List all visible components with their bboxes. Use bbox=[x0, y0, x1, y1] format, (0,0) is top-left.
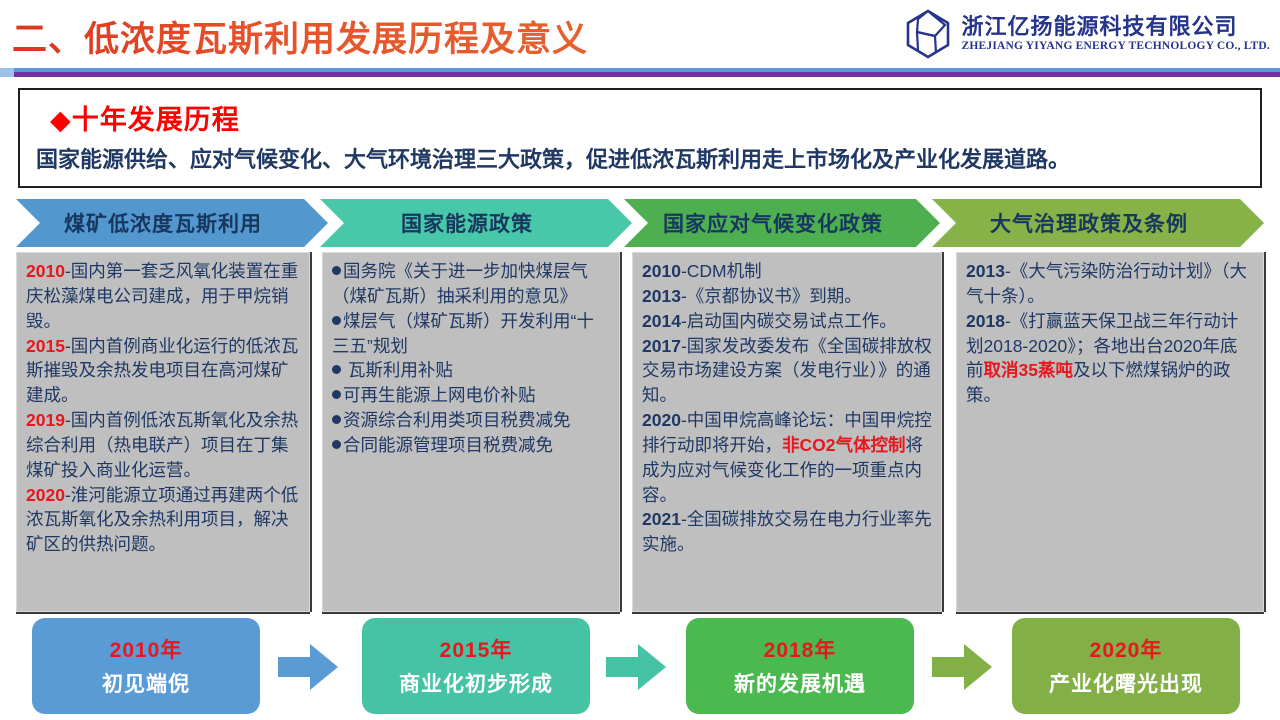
chevron-stage-2[interactable]: 国家能源政策 bbox=[320, 199, 632, 247]
milestone-2018[interactable]: 2018年 新的发展机遇 bbox=[686, 618, 914, 714]
list-item: 2013-《京都协议书》到期。 bbox=[642, 284, 932, 309]
milestone-label: 商业化初步形成 bbox=[399, 668, 553, 698]
entry-text: -国家发改委发布《全国碳排放权交易市场建设方案（发电行业）》的通知。 bbox=[642, 336, 932, 406]
milestone-year: 2015年 bbox=[440, 634, 513, 664]
entry-year: 2020 bbox=[26, 485, 65, 505]
page-title: 二、低浓度瓦斯利用发展历程及意义 bbox=[12, 11, 588, 62]
company-logo: 浙江亿扬能源科技有限公司 ZHEJIANG YIYANG ENERGY TECH… bbox=[905, 6, 1270, 62]
content-column-climate-policy: 2010-CDM机制 2013-《京都协议书》到期。 2014-启动国内碳交易试… bbox=[632, 252, 942, 612]
entry-text: -全国碳排放交易在电力行业率先实施。 bbox=[642, 509, 932, 554]
bullet-dot-icon bbox=[332, 440, 341, 449]
milestone-row: 2010年 初见端倪 2015年 商业化初步形成 2018年 新的发展机遇 20… bbox=[0, 618, 1280, 718]
milestone-label: 新的发展机遇 bbox=[734, 668, 866, 698]
list-item: 2015-国内首例商业化运行的低浓瓦斯摧毁及余热发电项目在高河煤矿建成。 bbox=[26, 334, 300, 409]
entry-highlight: 取消35蒸吨 bbox=[984, 360, 1073, 380]
content-column-air-policy: 2013-《大气污染防治行动计划》（大气十条）。 2018-《打赢蓝天保卫战三年… bbox=[956, 252, 1264, 612]
bullet-text: 合同能源管理项目税费减免 bbox=[343, 435, 553, 455]
entry-year: 2015 bbox=[26, 336, 65, 356]
milestone-year: 2020年 bbox=[1090, 634, 1163, 664]
content-column-energy-policy: 国务院《关于进一步加快煤层气（煤矿瓦斯）抽采利用的意见》 煤层气（煤矿瓦斯）开发… bbox=[322, 252, 620, 612]
bullet-text: 国务院《关于进一步加快煤层气（煤矿瓦斯）抽采利用的意见》 bbox=[332, 261, 588, 306]
list-item: 2020-淮河能源立项通过再建两个低浓瓦斯氧化及余热利用项目，解决矿区的供热问题… bbox=[26, 483, 300, 558]
chevron-stage-3[interactable]: 国家应对气候变化政策 bbox=[624, 199, 940, 247]
chevron-stage-4[interactable]: 大气治理政策及条例 bbox=[932, 199, 1264, 247]
list-item: 2017-国家发改委发布《全国碳排放权交易市场建设方案（发电行业）》的通知。 bbox=[642, 334, 932, 409]
entry-text: -淮河能源立项通过再建两个低浓瓦斯氧化及余热利用项目，解决矿区的供热问题。 bbox=[26, 485, 298, 555]
bullet-text: 资源综合利用类项目税费减免 bbox=[343, 410, 571, 430]
list-item: 2010-CDM机制 bbox=[642, 259, 932, 284]
entry-year: 2017 bbox=[642, 336, 681, 356]
bullet-dot-icon bbox=[332, 266, 341, 275]
arrow-right-icon bbox=[932, 644, 994, 690]
bullet-text: 瓦斯利用补贴 bbox=[343, 360, 453, 380]
header-rule-cap bbox=[0, 68, 14, 77]
arrow-right-icon bbox=[278, 644, 340, 690]
entry-year: 2014 bbox=[642, 311, 681, 331]
list-item: 2018-《打赢蓝天保卫战三年行动计划2018-2020》；各地出台2020年底… bbox=[966, 309, 1254, 408]
milestone-year: 2010年 bbox=[110, 634, 183, 664]
list-item: 2014-启动国内碳交易试点工作。 bbox=[642, 309, 932, 334]
company-name-cn: 浙江亿扬能源科技有限公司 bbox=[961, 15, 1270, 40]
milestone-year: 2018年 bbox=[764, 634, 837, 664]
list-item: 2013-《大气污染防治行动计划》（大气十条）。 bbox=[966, 259, 1254, 309]
hexagon-cube-logo-icon bbox=[905, 9, 951, 59]
list-item: 资源综合利用类项目税费减免 bbox=[332, 408, 610, 433]
entry-text: -启动国内碳交易试点工作。 bbox=[681, 311, 897, 331]
list-item: 国务院《关于进一步加快煤层气（煤矿瓦斯）抽采利用的意见》 bbox=[332, 259, 610, 309]
bullet-text: 可再生能源上网电价补贴 bbox=[343, 385, 536, 405]
bullet-dot-icon bbox=[332, 415, 341, 424]
list-item: 2010-国内第一套乏风氧化装置在重庆松藻煤电公司建成，用于甲烷销毁。 bbox=[26, 259, 300, 334]
entry-year: 2013 bbox=[642, 286, 681, 306]
bullet-dot-icon bbox=[332, 365, 341, 374]
entry-year: 2018 bbox=[966, 311, 1005, 331]
content-column-coal-mine-gas: 2010-国内第一套乏风氧化装置在重庆松藻煤电公司建成，用于甲烷销毁。 2015… bbox=[16, 252, 310, 612]
milestone-label: 产业化曙光出现 bbox=[1049, 668, 1203, 698]
content-columns: 2010-国内第一套乏风氧化装置在重庆松藻煤电公司建成，用于甲烷销毁。 2015… bbox=[16, 252, 1264, 612]
slide-root: 二、低浓度瓦斯利用发展历程及意义 浙江亿扬能源科技有限公司 ZHEJIANG Y… bbox=[0, 0, 1280, 720]
list-item: 2019-国内首例低浓瓦斯氧化及余热综合利用（热电联产）项目在丁集煤矿投入商业化… bbox=[26, 408, 300, 483]
arrow-right-icon bbox=[606, 644, 668, 690]
list-item: 合同能源管理项目税费减免 bbox=[332, 433, 610, 458]
entry-text: -国内首例商业化运行的低浓瓦斯摧毁及余热发电项目在高河煤矿建成。 bbox=[26, 336, 298, 406]
chevron-label: 大气治理政策及条例 bbox=[990, 208, 1188, 238]
bullet-dot-icon bbox=[332, 316, 341, 325]
entry-year: 2020 bbox=[642, 410, 681, 430]
chevron-stage-1[interactable]: 煤矿低浓度瓦斯利用 bbox=[16, 199, 328, 247]
entry-year: 2019 bbox=[26, 410, 65, 430]
entry-highlight: 非CO2气体控制 bbox=[782, 435, 905, 455]
milestone-label: 初见端倪 bbox=[102, 668, 190, 698]
subtitle-panel: ◆十年发展历程 国家能源供给、应对气候变化、大气环境治理三大政策，促进低浓瓦斯利… bbox=[18, 88, 1262, 188]
entry-text: -《大气污染防治行动计划》（大气十条）。 bbox=[966, 261, 1247, 306]
milestone-2015[interactable]: 2015年 商业化初步形成 bbox=[362, 618, 590, 714]
milestone-2010[interactable]: 2010年 初见端倪 bbox=[32, 618, 260, 714]
entry-year: 2021 bbox=[642, 509, 681, 529]
entry-year: 2010 bbox=[26, 261, 65, 281]
milestone-2020[interactable]: 2020年 产业化曙光出现 bbox=[1012, 618, 1240, 714]
subtitle-heading: ◆十年发展历程 bbox=[50, 98, 240, 137]
entry-text: -《京都协议书》到期。 bbox=[681, 286, 862, 306]
slide-header: 二、低浓度瓦斯利用发展历程及意义 浙江亿扬能源科技有限公司 ZHEJIANG Y… bbox=[0, 0, 1280, 70]
list-item: 2021-全国碳排放交易在电力行业率先实施。 bbox=[642, 507, 932, 557]
entry-year: 2013 bbox=[966, 261, 1005, 281]
entry-text: -国内首例低浓瓦斯氧化及余热综合利用（热电联产）项目在丁集煤矿投入商业化运营。 bbox=[26, 410, 298, 480]
chevron-band: 煤矿低浓度瓦斯利用 国家能源政策 国家应对气候变化政策 大气治理政策及条例 bbox=[16, 199, 1264, 247]
bullet-text: 煤层气（煤矿瓦斯）开发利用“十三五”规划 bbox=[332, 311, 594, 356]
list-item: 可再生能源上网电价补贴 bbox=[332, 383, 610, 408]
entry-text: -CDM机制 bbox=[681, 261, 762, 281]
chevron-label: 煤矿低浓度瓦斯利用 bbox=[64, 208, 262, 238]
logo-text-block: 浙江亿扬能源科技有限公司 ZHEJIANG YIYANG ENERGY TECH… bbox=[961, 15, 1270, 52]
list-item: 2020-中国甲烷高峰论坛：中国甲烷控排行动即将开始，非CO2气体控制将成为应对… bbox=[642, 408, 932, 507]
list-item: 瓦斯利用补贴 bbox=[332, 358, 610, 383]
header-rule-purple bbox=[0, 72, 1280, 77]
entry-text: -国内第一套乏风氧化装置在重庆松藻煤电公司建成，用于甲烷销毁。 bbox=[26, 261, 298, 331]
subtitle-body: 国家能源供给、应对气候变化、大气环境治理三大政策，促进低浓瓦斯利用走上市场化及产… bbox=[36, 142, 1248, 174]
chevron-label: 国家能源政策 bbox=[401, 208, 533, 238]
entry-year: 2010 bbox=[642, 261, 681, 281]
bullet-dot-icon bbox=[332, 390, 341, 399]
chevron-label: 国家应对气候变化政策 bbox=[663, 208, 883, 238]
company-name-en: ZHEJIANG YIYANG ENERGY TECHNOLOGY CO., L… bbox=[961, 40, 1270, 53]
list-item: 煤层气（煤矿瓦斯）开发利用“十三五”规划 bbox=[332, 309, 610, 359]
